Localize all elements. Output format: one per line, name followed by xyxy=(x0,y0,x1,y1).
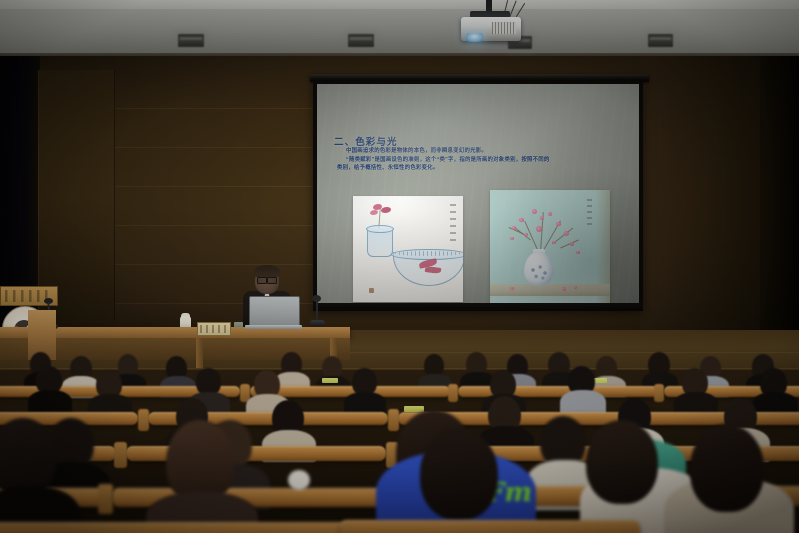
bench-post xyxy=(114,442,127,468)
plum-blossom-icon xyxy=(552,241,556,245)
slide-body-text: 中国画追求的色彩是物体的本色，而非瞬息变幻的光影。 “随类赋彩”是国画设色的准则… xyxy=(337,147,627,173)
plum-blossom-icon xyxy=(548,212,552,216)
cup-rim-icon xyxy=(366,225,394,233)
flower-petal-icon xyxy=(370,210,378,215)
laptop-icon xyxy=(249,296,300,328)
ceiling-speaker-icon xyxy=(178,34,204,47)
left-wall-panel xyxy=(38,70,115,320)
bench-post xyxy=(448,384,458,402)
fallen-blossom-icon xyxy=(574,286,577,289)
slide-body-line-2: “随类赋彩”是国画设色的准则，这个“类”字，指的是所画的对象类别，按照不同的 xyxy=(337,156,627,165)
plum-blossom-icon xyxy=(564,231,569,236)
bench-backrest xyxy=(638,412,799,425)
nameplate-text xyxy=(200,325,228,333)
plum-blossom-icon xyxy=(556,222,561,227)
plum-blossom-icon xyxy=(536,226,542,232)
foreground-head xyxy=(586,420,658,504)
plum-blossom-icon xyxy=(576,251,580,255)
projector-vent xyxy=(492,22,516,34)
flower-petal-icon xyxy=(381,207,391,213)
laptop-base xyxy=(245,325,302,329)
plum-blossom-icon xyxy=(510,237,514,241)
foreground-head xyxy=(690,424,764,512)
right-wall-corner xyxy=(760,56,799,356)
bench-backrest xyxy=(0,522,380,533)
bench-backrest xyxy=(340,520,640,533)
bench-post xyxy=(654,384,664,402)
microphone-base xyxy=(310,320,325,326)
bowl-pattern-icon xyxy=(395,251,461,256)
projection-screen: 二、色彩与光 中国画追求的色彩是物体的本色，而非瞬息变幻的光影。 “随类赋彩”是… xyxy=(317,84,639,304)
seat-pad xyxy=(322,378,338,383)
slide-heading: 二、色彩与光 xyxy=(334,134,398,148)
slide-artwork-left xyxy=(353,196,463,302)
lecture-hall-photo: 二、色彩与光 中国画追求的色彩是物体的本色，而非瞬息变幻的光影。 “随类赋彩”是… xyxy=(0,0,799,533)
bench-backrest xyxy=(458,386,658,397)
bench-post xyxy=(138,409,149,431)
plum-blossom-icon xyxy=(540,216,544,220)
seal-stamp-icon xyxy=(369,288,374,293)
fallen-blossom-icon xyxy=(562,287,566,291)
slide-body-line-1: 中国画追求的色彩是物体的本色，而非瞬息变幻的光影。 xyxy=(337,147,627,156)
calligraphy-signature-icon xyxy=(587,199,592,225)
ceiling-speaker-icon xyxy=(348,34,374,47)
bench-post xyxy=(98,484,113,514)
microphone-stem xyxy=(316,300,318,321)
foreground-head xyxy=(420,428,498,520)
fallen-blossom-icon xyxy=(510,287,514,291)
slide-artwork-right xyxy=(490,190,610,304)
plum-blossom-icon xyxy=(512,226,516,230)
bench-post xyxy=(388,409,399,431)
desk-nameplate xyxy=(197,322,231,336)
bench-backrest xyxy=(126,446,386,461)
ceiling-speaker-icon xyxy=(648,34,673,47)
slide-body-line-3: 类别，给予概括性、永恒性的色彩变化。 xyxy=(337,164,627,173)
ceiling-soffit xyxy=(0,9,799,56)
plum-blossom-icon xyxy=(532,209,537,214)
vase-blue-pattern-icon xyxy=(527,262,551,282)
calligraphy-signature-icon xyxy=(450,204,456,244)
plum-blossom-icon xyxy=(519,218,524,223)
plum-blossom-icon xyxy=(570,242,574,246)
plum-blossom-icon xyxy=(524,233,528,237)
projection-screen-bottom-bar xyxy=(313,303,643,311)
glasses-icon xyxy=(257,277,277,282)
ceiling-upper-band xyxy=(0,0,799,9)
painted-table-surface xyxy=(490,284,610,296)
hair-tie-icon xyxy=(288,470,310,490)
table-leg xyxy=(196,338,203,368)
projector-lens-icon xyxy=(466,33,483,42)
